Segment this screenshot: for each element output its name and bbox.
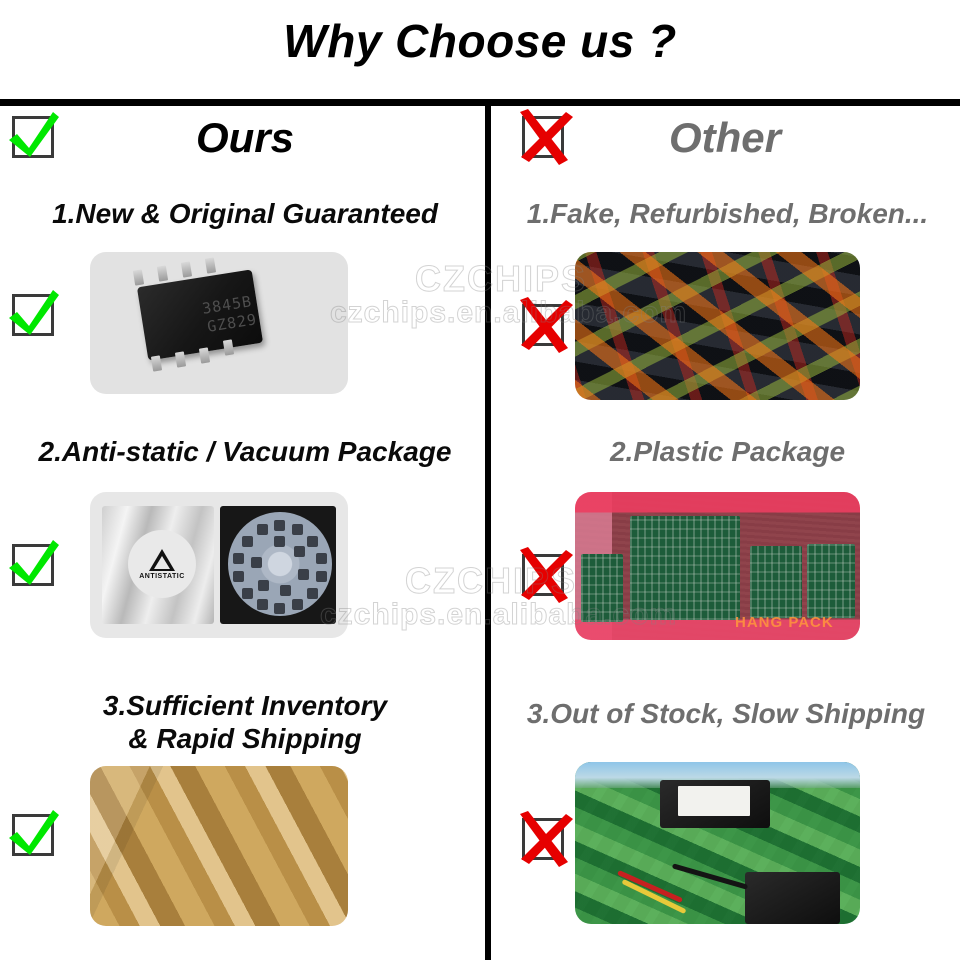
horizontal-divider — [0, 99, 960, 106]
check-glyph — [6, 808, 60, 862]
row-2-ours-label: 2.Anti-static / Vacuum Package — [10, 436, 480, 468]
antistatic-bag-photo: ANTISTATIC — [90, 492, 348, 638]
antistatic-label-text: ANTISTATIC — [139, 573, 185, 580]
check-glyph — [6, 288, 60, 342]
column-header-ours: Ours — [80, 108, 410, 168]
row-1-other-label: 1.Fake, Refurbished, Broken... — [500, 198, 955, 230]
row-1-ours-label: 1.New & Original Guaranteed — [20, 198, 470, 230]
scrap-chips-photo — [575, 252, 860, 400]
black-pad — [745, 872, 840, 924]
row-2-other-label: 2.Plastic Package — [500, 436, 955, 468]
row-3-ours-label-line-2: & Rapid Shipping — [20, 723, 470, 755]
high-voltage-icon — [149, 549, 175, 571]
cross-icon — [516, 298, 570, 352]
column-header-other: Other — [560, 108, 890, 168]
cross-glyph — [516, 812, 570, 866]
cross-icon — [516, 110, 570, 164]
component-reel — [228, 512, 332, 616]
black-module — [660, 780, 770, 828]
cross-icon — [516, 548, 570, 602]
cross-icon — [516, 812, 570, 866]
component-reel-case — [220, 506, 336, 624]
chip-photo: 3845B GZ829 — [90, 252, 348, 394]
watermark-brand: CZCHIPS — [415, 258, 587, 300]
warehouse-boxes-photo — [90, 766, 348, 926]
antistatic-bag: ANTISTATIC — [102, 506, 214, 624]
check-icon — [6, 288, 60, 342]
cross-glyph — [516, 110, 570, 164]
check-icon — [6, 808, 60, 862]
why-choose-us-infographic: Why Choose us ? Ours Other 1.New & Origi… — [0, 0, 960, 960]
check-glyph — [6, 110, 60, 164]
cross-glyph — [516, 298, 570, 352]
row-3-other-label: 3.Out of Stock, Slow Shipping — [495, 698, 957, 730]
check-glyph — [6, 538, 60, 592]
check-icon — [6, 110, 60, 164]
cross-glyph — [516, 548, 570, 602]
antistatic-label: ANTISTATIC — [128, 530, 196, 598]
page-title: Why Choose us ? — [0, 14, 960, 68]
row-3-ours-label-line-1: 3.Sufficient Inventory — [20, 690, 470, 722]
check-icon — [6, 538, 60, 592]
vertical-divider — [485, 106, 491, 960]
pcb-scrap-pile-photo — [575, 762, 860, 924]
pink-plastic-bag-photo: HANG PACK — [575, 492, 860, 640]
bag-print-text: HANG PACK — [735, 614, 834, 631]
